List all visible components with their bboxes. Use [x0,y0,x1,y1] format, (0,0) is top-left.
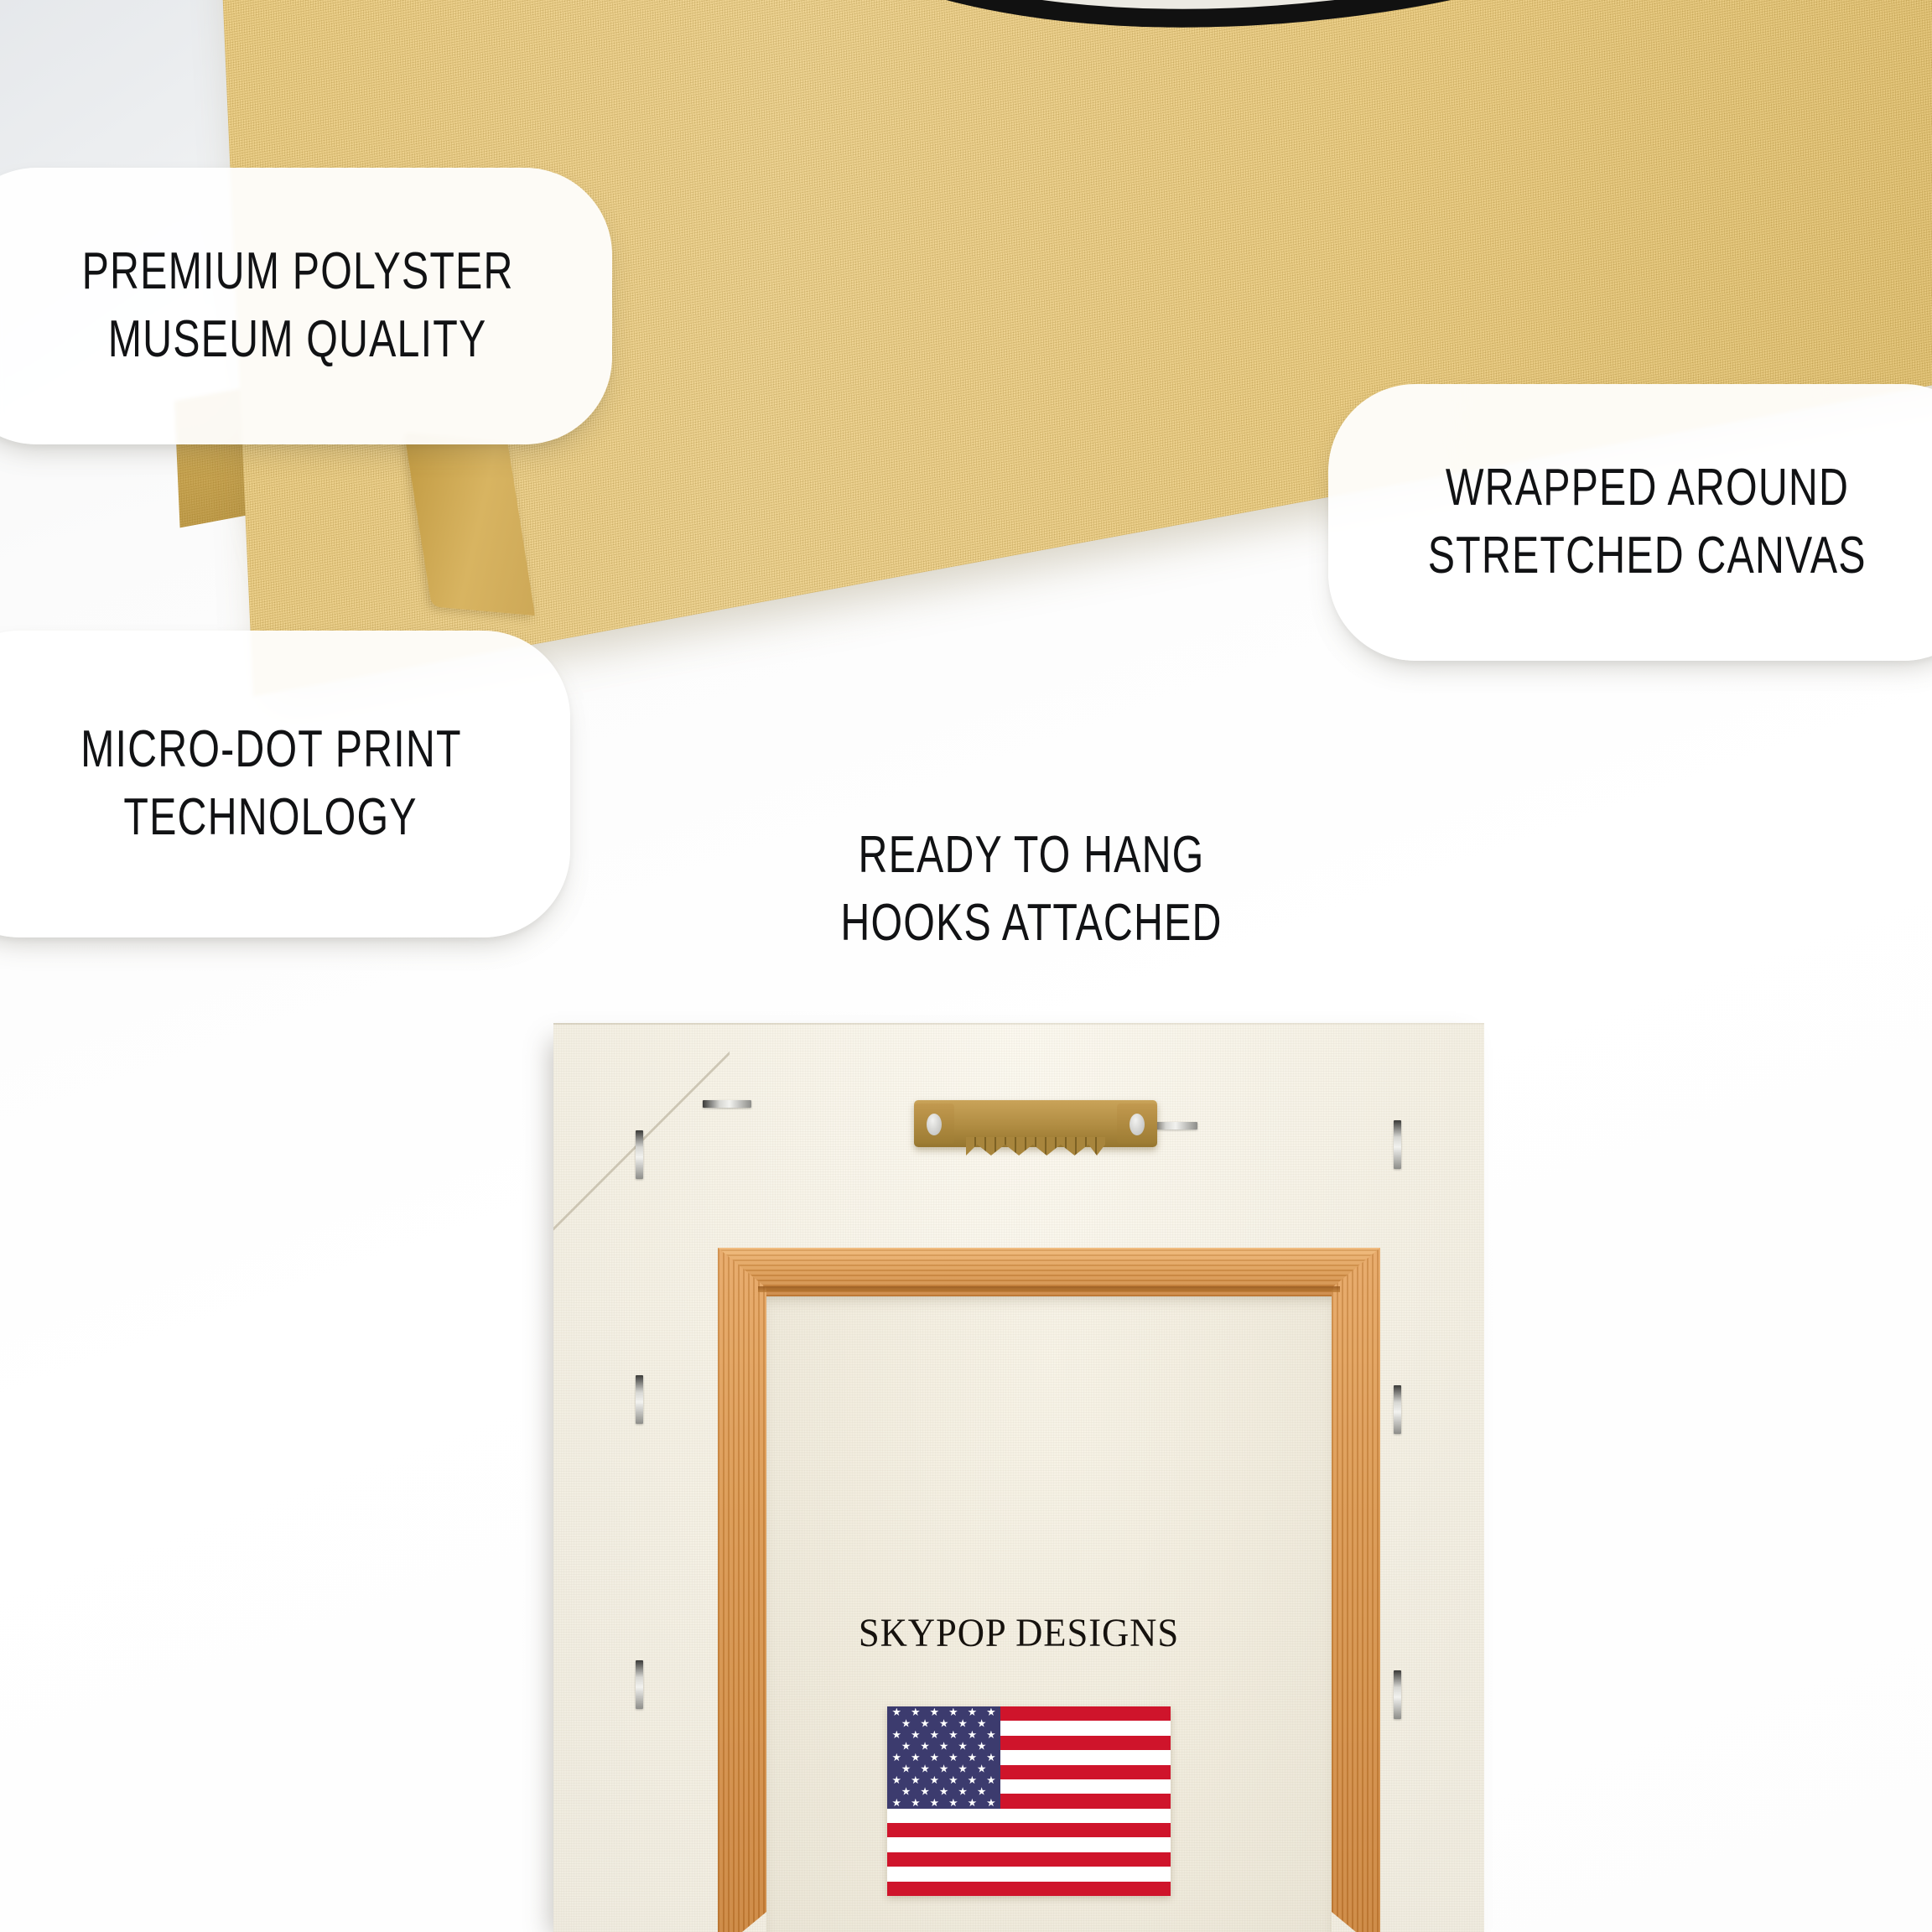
screw-left [927,1114,942,1135]
flag-star [930,1753,938,1762]
flag-star [921,1719,929,1727]
flag-star [987,1753,995,1762]
stretcher-bar-shadow-line [758,1286,1340,1292]
flag-star [968,1799,976,1807]
flag-star [977,1742,985,1750]
staple [636,1375,643,1424]
flag-star [921,1764,929,1773]
staple [1394,1120,1401,1169]
flag-star [987,1708,995,1716]
united-states-flag-icon [887,1706,1171,1896]
feature-line: STRETCHED CANVAS [1428,522,1867,590]
flag-star [930,1708,938,1716]
caption-line: HOOKS ATTACHED [816,890,1248,958]
flag-star [911,1776,920,1784]
flag-star [901,1719,910,1727]
screw-right [1130,1114,1145,1135]
flag-star [930,1776,938,1784]
flag-star [977,1719,985,1727]
flag-star [949,1776,958,1784]
flag-star [892,1799,901,1807]
flag-star [892,1708,901,1716]
flag-star [949,1753,958,1762]
caption-ready-to-hang: READY TO HANG HOOKS ATTACHED [755,822,1308,957]
feature-pill-micro-dot-print: MICRO-DOT PRINT TECHNOLOGY [0,631,570,937]
feature-line: TECHNOLOGY [124,784,418,852]
flag-stripe [887,1823,1171,1837]
flag-star [977,1787,985,1795]
brand-wordmark: SKYPOP DESIGNS [586,1610,1452,1656]
stretcher-bar-right [1332,1248,1380,1932]
flag-star [911,1731,920,1739]
flag-star [939,1764,948,1773]
feature-line: MUSEUM QUALITY [108,306,487,374]
feature-pill-wrapped-around: WRAPPED AROUND STRETCHED CANVAS [1328,384,1932,661]
feature-line: PREMIUM POLYSTER [82,238,514,306]
flag-star [901,1787,910,1795]
flag-star [958,1719,967,1727]
canvas-back-panel: SKYPOP DESIGNS [553,1023,1484,1932]
canvas-back-view: SKYPOP DESIGNS [537,1006,1543,1932]
flag-star [958,1742,967,1750]
flag-star [987,1776,995,1784]
flag-canton [887,1706,1000,1809]
flag-star [939,1787,948,1795]
staple [636,1130,643,1179]
flag-star [930,1799,938,1807]
flag-star [911,1799,920,1807]
flag-star [949,1731,958,1739]
flag-star [911,1753,920,1762]
flag-star [892,1776,901,1784]
feature-line: WRAPPED AROUND [1445,454,1848,522]
staple [1394,1385,1401,1434]
flag-stripe [887,1809,1171,1823]
flag-stripe [887,1882,1171,1896]
product-feature-graphic: PREMIUM POLYSTER MUSEUM QUALITY MICRO-DO… [0,0,1932,1932]
flag-star [892,1731,901,1739]
flag-star [921,1787,929,1795]
stretcher-bar-left [718,1248,766,1932]
flag-star [977,1764,985,1773]
staple [636,1660,643,1709]
flag-star [892,1753,901,1762]
flag-star [901,1764,910,1773]
flag-stripe [887,1837,1171,1851]
flag-star [911,1708,920,1716]
flag-star [921,1742,929,1750]
flag-star [958,1764,967,1773]
flag-star [939,1742,948,1750]
flag-star [958,1787,967,1795]
hanger-teeth [966,1137,1105,1156]
flag-star [939,1719,948,1727]
flag-star [949,1799,958,1807]
flag-star [968,1776,976,1784]
flag-star [949,1708,958,1716]
feature-pill-premium-polyster: PREMIUM POLYSTER MUSEUM QUALITY [0,168,612,444]
flag-star [968,1753,976,1762]
flag-stripe [887,1867,1171,1881]
staple [703,1100,751,1108]
flag-star [987,1731,995,1739]
flag-star [901,1742,910,1750]
feature-line: MICRO-DOT PRINT [80,716,462,784]
sawtooth-hanger-icon [914,1100,1157,1159]
staple [1394,1670,1401,1719]
flag-star [987,1799,995,1807]
flag-star [968,1708,976,1716]
flag-star [930,1731,938,1739]
flag-star [968,1731,976,1739]
flag-stripe [887,1852,1171,1867]
caption-line: READY TO HANG [816,822,1248,890]
